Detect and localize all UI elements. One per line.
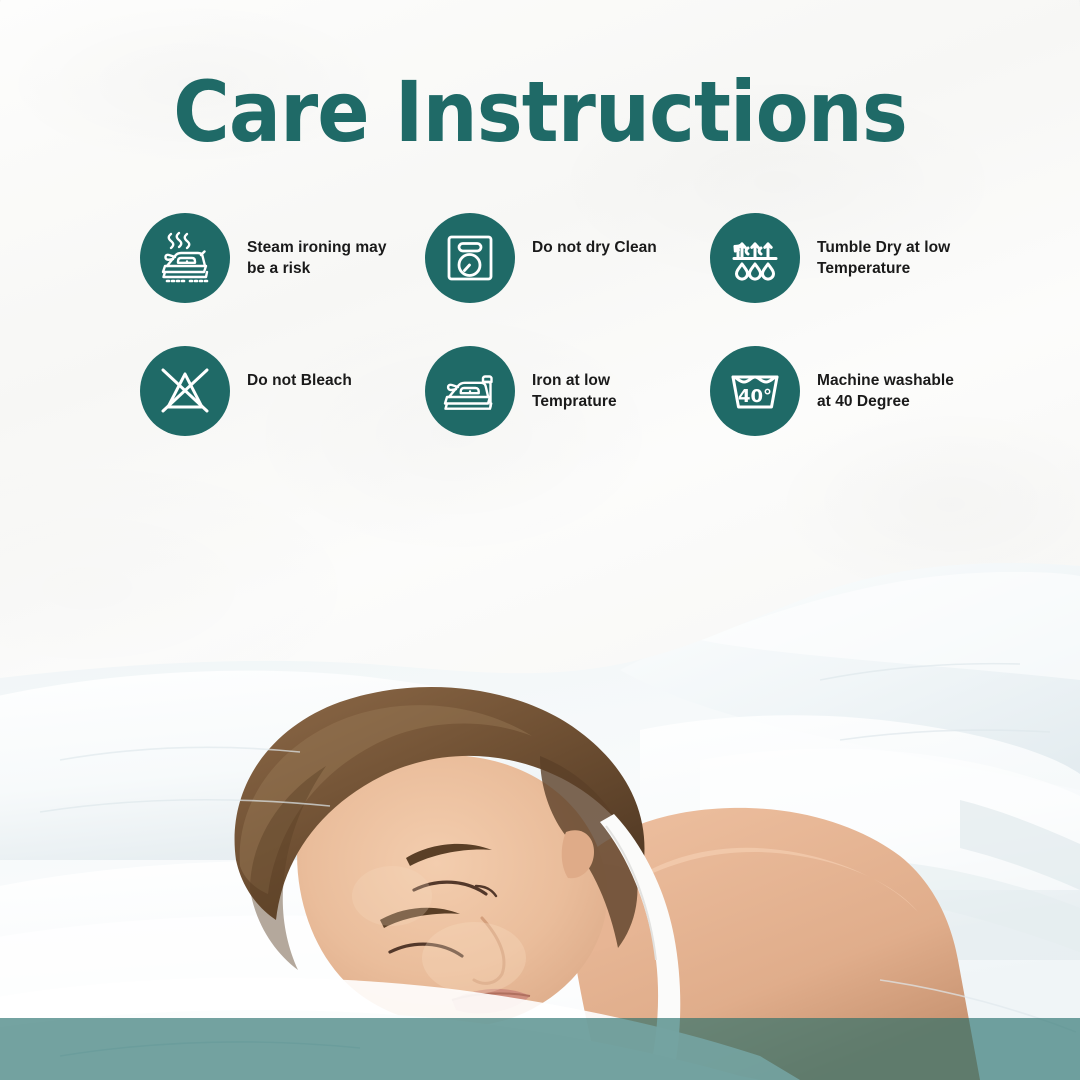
page-title: Care Instructions xyxy=(43,68,1037,156)
care-item-label: Do not Bleach xyxy=(247,371,352,392)
machine-wash-temp-text: 40° xyxy=(738,386,772,407)
bottom-overlay-band xyxy=(0,1018,1080,1080)
bedding-photo xyxy=(0,560,1080,1080)
care-item-label: Iron at low Temprature xyxy=(532,371,617,412)
care-icon-grid: Steam ironing may be a risk Do not dry C… xyxy=(140,213,1020,479)
care-item-steam-ironing: Steam ironing may be a risk xyxy=(140,213,425,346)
care-item-iron-low: Iron at low Temprature xyxy=(425,346,710,479)
care-item-label: Machine washable at 40 Degree xyxy=(817,371,954,412)
tumble-dry-low-icon xyxy=(710,213,800,303)
do-not-dry-clean-icon xyxy=(425,213,515,303)
care-item-machine-wash-40: 40° Machine washable at 40 Degree xyxy=(710,346,1020,479)
steam-iron-icon xyxy=(140,213,230,303)
machine-wash-40-icon: 40° xyxy=(710,346,800,436)
care-instructions-page: Care Instructions xyxy=(0,0,1080,1080)
care-item-label: Do not dry Clean xyxy=(532,238,657,259)
care-item-do-not-dry-clean: Do not dry Clean xyxy=(425,213,710,346)
care-item-label: Tumble Dry at low Temperature xyxy=(817,238,950,279)
care-item-label: Steam ironing may be a risk xyxy=(247,238,387,279)
care-item-tumble-dry: Tumble Dry at low Temperature xyxy=(710,213,1020,346)
care-item-do-not-bleach: Do not Bleach xyxy=(140,346,425,479)
do-not-bleach-icon xyxy=(140,346,230,436)
iron-low-temperature-icon xyxy=(425,346,515,436)
